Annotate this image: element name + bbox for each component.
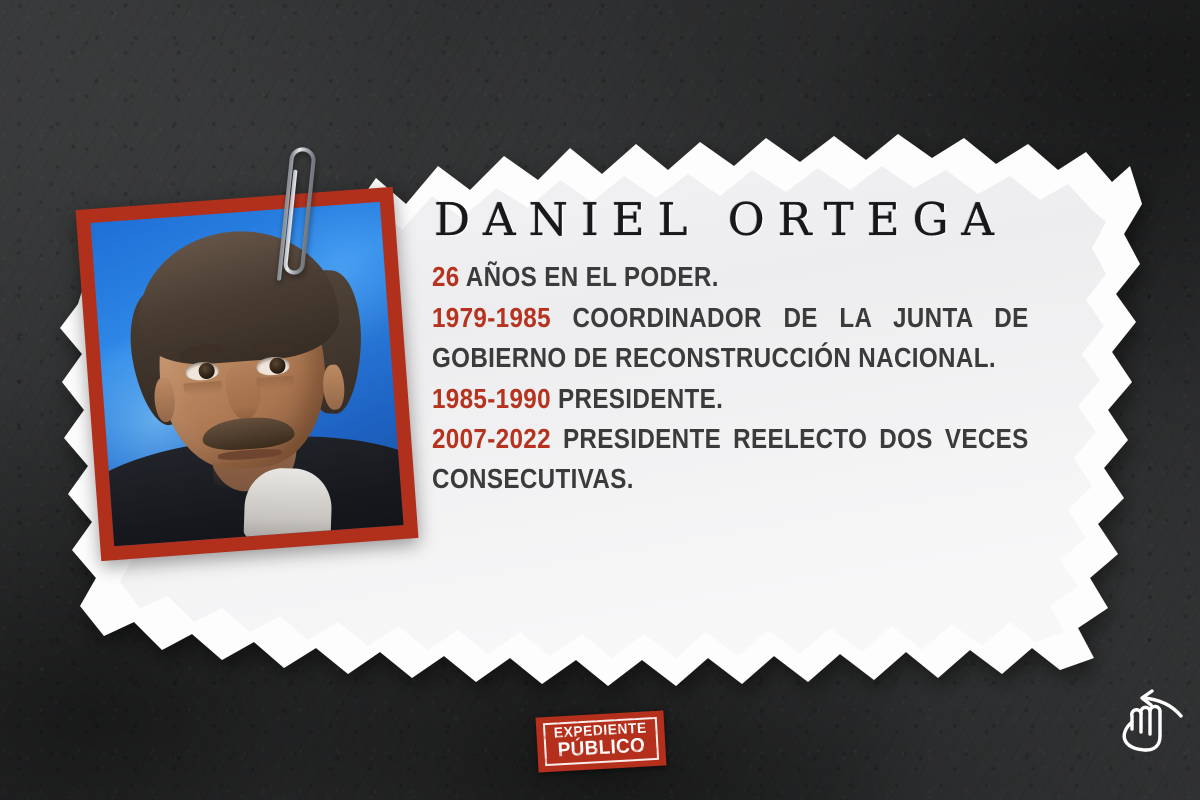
fact-list: 26 AÑOS EN EL PODER.1979-1985 COORDINADO… (432, 257, 1029, 500)
infographic-canvas: DANIEL ORTEGA 26 AÑOS EN EL PODER.1979-1… (0, 0, 1200, 800)
fact-highlight: 1985-1990 (432, 383, 551, 414)
logo-inner-border: EXPEDIENTE PÚBLICO (543, 717, 659, 766)
fact-line: 2007-2022 PRESIDENTE REELECTO DOS VECES (432, 419, 1029, 459)
fact-line: 26 AÑOS EN EL PODER. (432, 257, 1029, 297)
fact-text: PRESIDENTE. (558, 383, 723, 414)
logo-line-2: PÚBLICO (557, 736, 646, 762)
fact-line: 1985-1990 PRESIDENTE. (432, 379, 1029, 419)
swipe-left-hand-icon[interactable] (1113, 682, 1187, 758)
fact-text: GOBIERNO DE RECONSTRUCCIÓN NACIONAL. (432, 342, 996, 373)
fact-text: AÑOS EN EL PODER. (466, 261, 719, 292)
fact-text: CONSECUTIVAS. (432, 463, 634, 494)
card-content: DANIEL ORTEGA 26 AÑOS EN EL PODER.1979-1… (432, 196, 1032, 500)
portrait-illustration (91, 202, 404, 546)
portrait-photo-card (76, 187, 419, 561)
fact-highlight: 26 (432, 261, 460, 292)
fact-highlight: 1979-1985 (432, 302, 551, 333)
page-title: DANIEL ORTEGA (434, 196, 1032, 243)
fact-highlight: 2007-2022 (432, 423, 551, 454)
fact-line: CONSECUTIVAS. (432, 459, 1029, 499)
expediente-publico-logo[interactable]: EXPEDIENTE PÚBLICO (536, 710, 667, 772)
fact-line: 1979-1985 COORDINADOR DE LA JUNTA DE (432, 298, 1029, 338)
portrait-photo (91, 202, 404, 546)
fact-text: COORDINADOR DE LA JUNTA DE (572, 302, 1028, 333)
fact-text: PRESIDENTE REELECTO DOS VECES (563, 423, 1029, 454)
fact-line: GOBIERNO DE RECONSTRUCCIÓN NACIONAL. (432, 338, 1029, 378)
